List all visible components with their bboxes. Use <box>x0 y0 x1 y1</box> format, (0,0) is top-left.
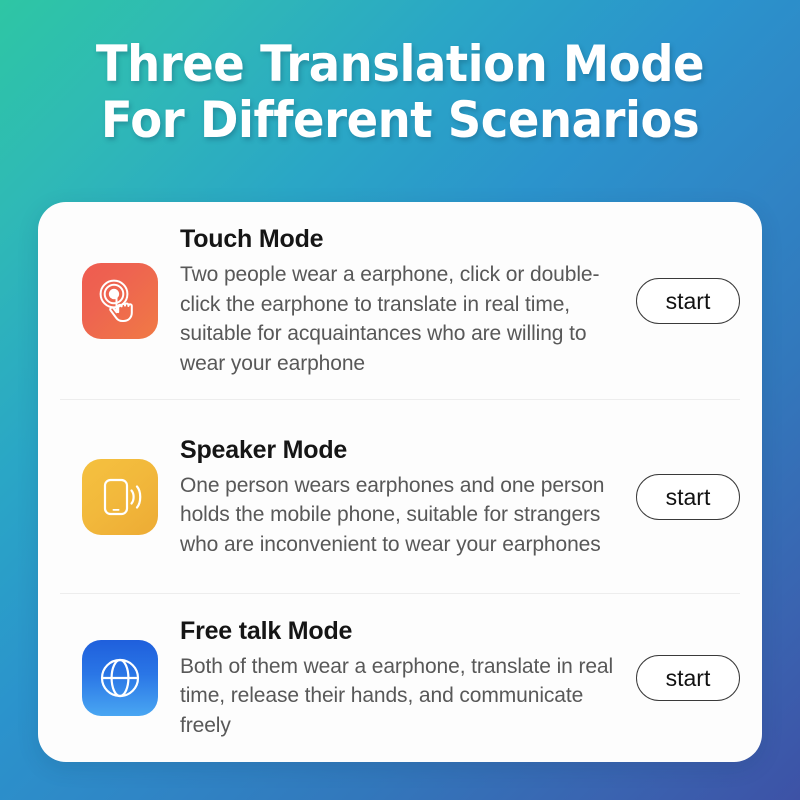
mode-text-free-talk: Free talk Mode Both of them wear a earph… <box>180 616 636 741</box>
mode-row-speaker: Speaker Mode One person wears earphones … <box>38 400 762 594</box>
mode-description: Two people wear a earphone, click or dou… <box>180 260 626 378</box>
touch-gesture-icon <box>82 263 158 339</box>
start-button-speaker[interactable]: start <box>636 474 740 520</box>
promotional-graphic: Three Translation Mode For Different Sce… <box>0 0 800 800</box>
mode-row-free-talk: Free talk Mode Both of them wear a earph… <box>38 594 762 762</box>
start-button-touch[interactable]: start <box>636 278 740 324</box>
mode-description: One person wears earphones and one perso… <box>180 471 626 560</box>
mode-text-touch: Touch Mode Two people wear a earphone, c… <box>180 224 636 378</box>
mode-description: Both of them wear a earphone, translate … <box>180 652 626 741</box>
mode-title: Touch Mode <box>180 224 626 254</box>
mode-title: Speaker Mode <box>180 435 626 465</box>
mode-row-touch: Touch Mode Two people wear a earphone, c… <box>38 202 762 400</box>
mode-title: Free talk Mode <box>180 616 626 646</box>
mode-text-speaker: Speaker Mode One person wears earphones … <box>180 435 636 560</box>
phone-speaker-icon <box>82 459 158 535</box>
page-title: Three Translation Mode For Different Sce… <box>28 36 772 148</box>
page-title-line-1: Three Translation Mode <box>28 36 772 92</box>
page-title-line-2: For Different Scenarios <box>28 92 772 148</box>
modes-card: Touch Mode Two people wear a earphone, c… <box>38 202 762 762</box>
globe-icon <box>82 640 158 716</box>
start-button-free-talk[interactable]: start <box>636 655 740 701</box>
